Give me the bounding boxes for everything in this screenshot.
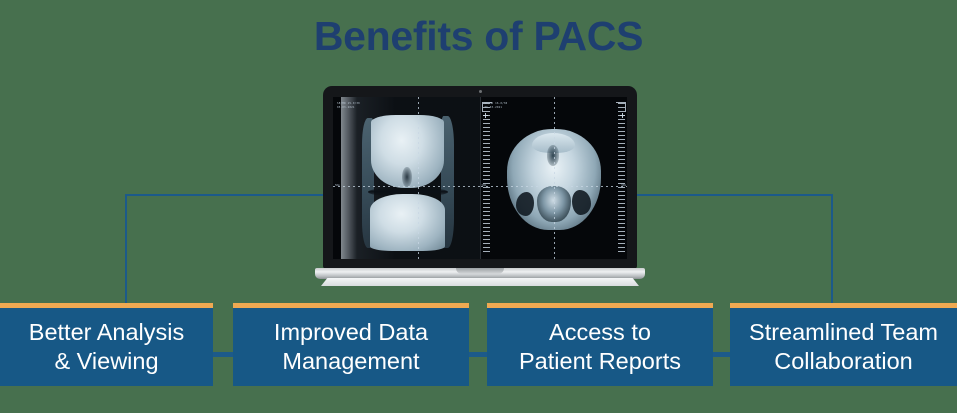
benefits-of-pacs-infographic: Benefits of PACS [0,0,957,413]
benefit-label: Access to Patient Reports [511,318,689,375]
connector-vertical-left [125,194,127,304]
ruler-right [618,103,625,255]
corner-bracket-top-right [616,102,626,112]
laptop-base [315,268,645,279]
benefit-box-access-to-patient-reports[interactable]: Access to Patient Reports [487,303,713,386]
axial-dark-region-left [516,192,534,216]
page-title: Benefits of PACS [0,14,957,59]
benefit-boxes: Better Analysis & Viewing Improved Data … [0,303,957,386]
benefit-box-better-analysis-viewing[interactable]: Better Analysis & Viewing [0,303,213,386]
benefit-label: Improved Data Management [266,318,436,375]
axial-scale-label-left: 50m [482,184,487,187]
laptop-lid: SE/MR 15.0/30 05.03.2021 50m S [323,86,637,269]
ruler-left [483,103,490,255]
laptop-notch [456,268,504,274]
mri-panel-coronal: SE/MR 15.0/30 05.03.2021 50m [333,97,480,259]
connector-vertical-right [831,194,833,304]
laptop-screen: SE/MR 15.0/30 05.03.2021 50m S [333,97,627,259]
coronal-mri-metadata: SE/MR 15.0/30 05.03.2021 [337,102,360,110]
axial-scale-label-right: 50m [621,184,626,187]
laptop-illustration: SE/MR 15.0/30 05.03.2021 50m S [315,86,645,284]
benefit-label: Better Analysis & Viewing [21,318,192,375]
benefit-box-streamlined-team-collaboration[interactable]: Streamlined Team Collaboration [730,303,957,386]
tibia-bone [370,194,444,251]
axial-reticle-vertical [554,97,555,259]
mri-panel-axial: SE/MR 16.0/30 05.03.2021 50m 50m [480,97,628,259]
webcam-icon [479,90,482,93]
coronal-knee-image [362,115,453,251]
coronal-reticle-horizontal [333,186,480,187]
coronal-reticle-vertical [418,97,419,259]
marker-cross-right [620,113,625,118]
axial-mri-metadata: SE/MR 16.0/30 05.03.2021 [485,102,508,110]
marker-cross-left [483,113,488,118]
benefit-label: Streamlined Team Collaboration [741,318,946,375]
laptop-foot [321,278,639,286]
benefit-box-improved-data-management[interactable]: Improved Data Management [233,303,469,386]
coronal-scale-label: 50m [335,184,340,187]
